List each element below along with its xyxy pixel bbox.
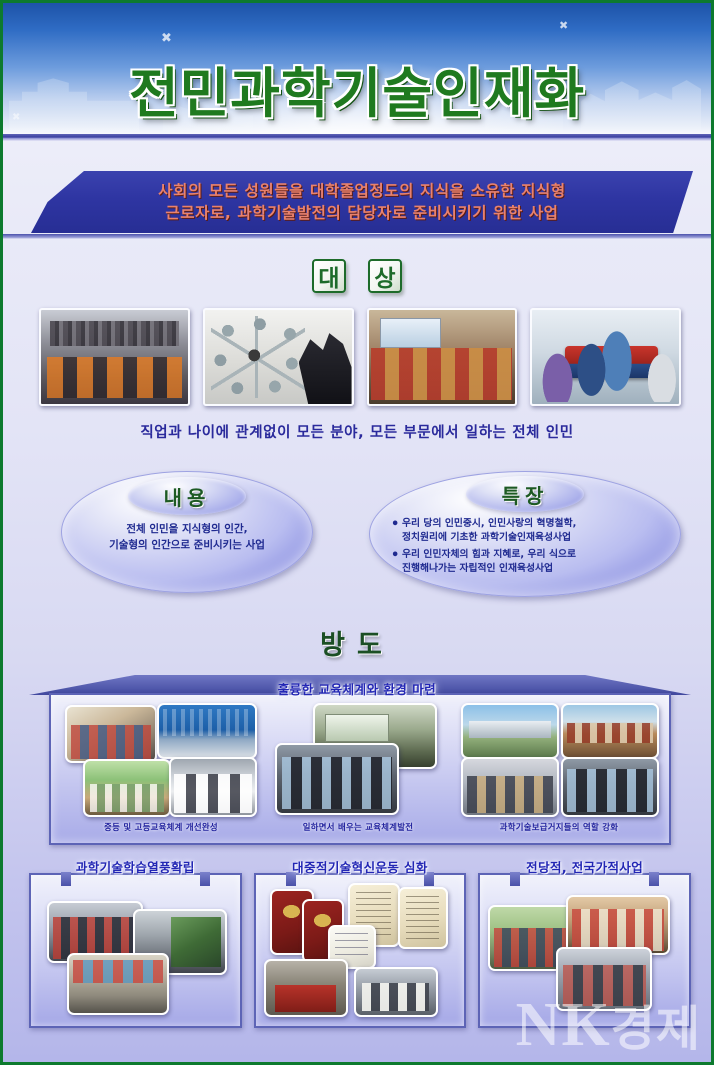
method-panel-3: 전당적, 전국가적사업 [478,873,691,1028]
content-ellipse-card: 내용 전체 인민을 지식형의 인간, 기술형의 인간으로 준비시키는 사업 [61,471,313,593]
method-panel-1: 과학기술학습열풍확립 [29,873,242,1028]
subtitle-line-2: 근로자로, 과학기술발전의 담당자로 준비시키기 위한 사업 [158,202,565,224]
features-bullet-2: 우리 인민자체의 힘과 지혜로, 우리 식으로 진행해나가는 자립적인 인재육성… [391,548,659,576]
method-cluster-3-caption: 과학기술보급거지들의 역할 강화 [455,821,663,833]
school-building-photo [157,703,257,759]
method-panel-2-title: 대중적기술혁신운동 심화 [256,857,465,876]
method-big-panel: 중등 및 고등교육체계 개선완성 일하면서 배우는 교육체계발전 과학기술보급거… [49,693,671,845]
kindergarten-photo [65,705,157,763]
poster-header: ✖ ✖ ✖ 전민과학기술인재화 [3,3,711,137]
sparkle-icon: ✖ [559,21,568,32]
method-cluster-3: 과학기술보급거지들의 역할 강화 [455,703,663,843]
science-tech-campus-photo [461,703,559,759]
traditional-building-photo [561,703,659,759]
method-panel-1-title: 과학기술학습열풍확립 [31,857,240,876]
method-cluster-1-caption: 중등 및 고등교육체계 개선완성 [61,821,261,833]
computer-lab-photo [39,308,190,406]
header-divider [3,134,711,141]
method-cluster-2: 일하면서 배우는 교육체계발전 [269,703,447,843]
features-ellipse-card: 특장 우리 당의 인민중시, 인민사랑의 혁명철학, 정치원리에 기초한 과학기… [369,471,681,597]
method-panel-2: 대중적기술혁신운동 심화 [254,873,467,1028]
content-ellipse-line-2: 기술형의 인간으로 준비시키는 사업 [109,537,265,553]
target-photo-strip [39,308,681,406]
molecular-model-exhibit-photo [203,308,354,406]
target-section-heading: 대 상 [3,259,711,293]
content-ellipse-title: 내용 [128,477,246,515]
method-bottom-row: 과학기술학습열풍확립 대중적기술혁신운동 심화 전당적, 전국가적사업 [29,873,691,1028]
laboratory-students-photo [169,757,257,817]
computer-study-room-photo [275,743,399,815]
big-panel-title: 훌륭한 교육체계와 환경 마련 [3,679,711,698]
classroom-photo [83,759,171,817]
banner-shadow-rule [3,234,714,239]
lecture-hall-photo [367,308,518,406]
features-ellipse-title: 특장 [466,476,584,512]
target-heading-glyph-1: 대 [312,259,346,293]
target-caption: 직업과 나이에 관계없이 모든 분야, 모든 부문에서 일하는 전체 인민 [3,421,711,442]
target-heading-glyph-2: 상 [368,259,402,293]
seminar-session-photo [556,947,652,1011]
subtitle-banner: 사회의 모든 성원들을 대학졸업정도의 지식을 소유한 지식형 근로자로, 과학… [31,171,693,233]
subtitle-line-1: 사회의 모든 성원들을 대학졸업정도의 지식을 소유한 지식형 [158,180,565,202]
page-title: 전민과학기술인재화 [3,49,711,128]
study-gallery-photo [67,953,169,1015]
features-bullet-1: 우리 당의 인민중시, 인민사랑의 혁명철학, 정치원리에 기초한 과학기술인재… [391,517,659,545]
dissemination-center-photo [561,757,659,817]
method-panel-3-title: 전당적, 전국가적사업 [480,857,689,876]
award-ceremony-photo [264,959,348,1017]
students-model-train-photo [530,308,681,406]
method-section-heading: 방도 [3,623,711,662]
method-cluster-1: 중등 및 고등교육체계 개선완성 [61,703,261,843]
poster-root: ✖ ✖ ✖ 전민과학기술인재화 사회의 모든 성원들을 대학졸업정도의 지식을 … [0,0,714,1065]
certificate-diploma [398,887,448,949]
content-ellipse-line-1: 전체 인민을 지식형의 인간, [109,521,265,537]
library-shelves-photo [461,757,559,817]
method-cluster-2-caption: 일하면서 배우는 교육체계발전 [269,821,447,833]
national-meeting-photo [566,895,670,955]
reading-documents-photo [354,967,438,1017]
sparkle-icon: ✖ [161,31,172,44]
